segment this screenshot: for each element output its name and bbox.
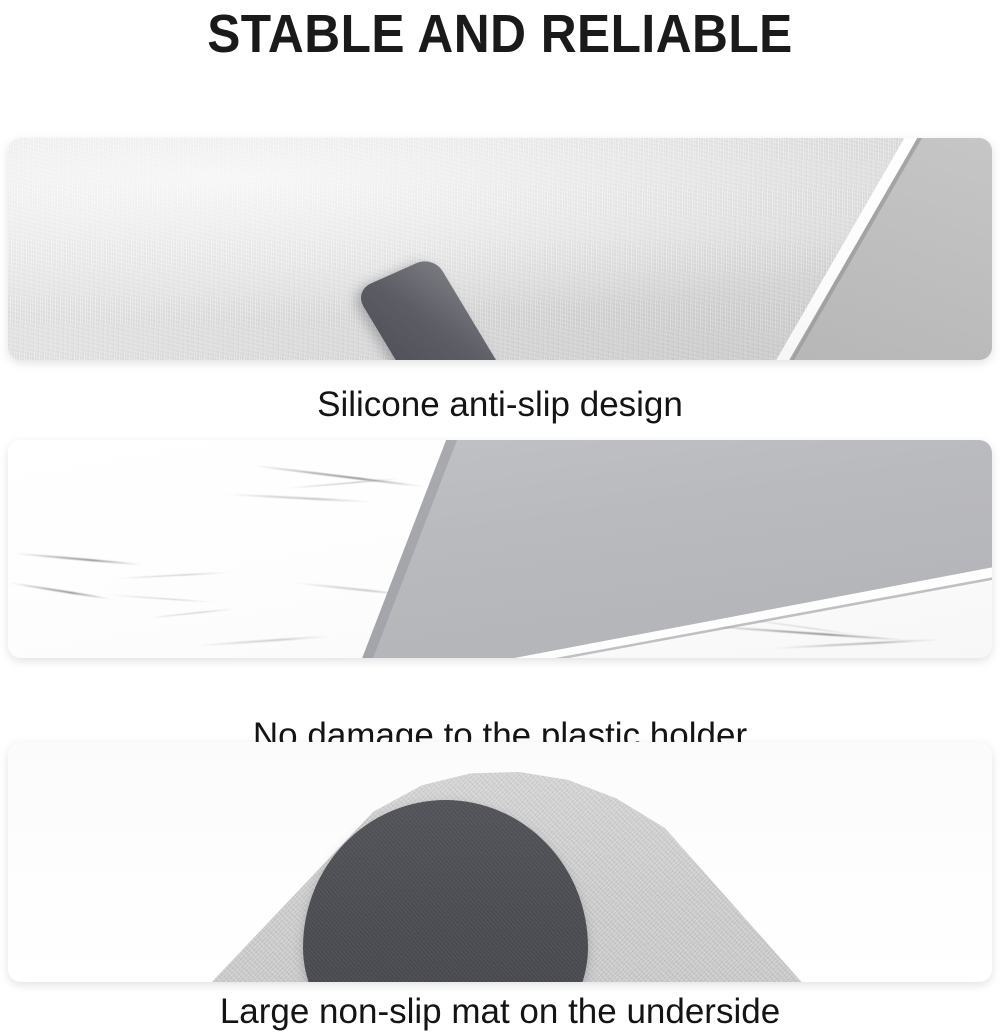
marble-vein [768,638,943,649]
caption-silicone-anti-slip-design: Silicone anti-slip design [0,385,1000,425]
marble-vein [113,572,233,580]
underside-non-slip-mat-photo [8,742,992,982]
panel-1-scene [8,138,992,360]
marble-vein [13,552,143,565]
marble-vein [103,594,218,603]
marble-vein [223,493,373,502]
panel-2-scene [8,440,992,658]
silicone-anti-slip-pad-photo [8,138,992,360]
panel-3-scene [8,742,992,982]
marble-vein [283,478,403,490]
marble-vein [8,582,112,600]
marble-vein [249,464,428,488]
caption-large-non-slip-mat-on-the-underside: Large non-slip mat on the underside [0,992,1000,1032]
silicone-pad-group [330,298,544,360]
page-title: STABLE AND RELIABLE [40,2,960,66]
marble-vein [143,608,238,619]
plastic-holder-grip-photo [8,440,992,658]
marble-vein [193,635,333,646]
